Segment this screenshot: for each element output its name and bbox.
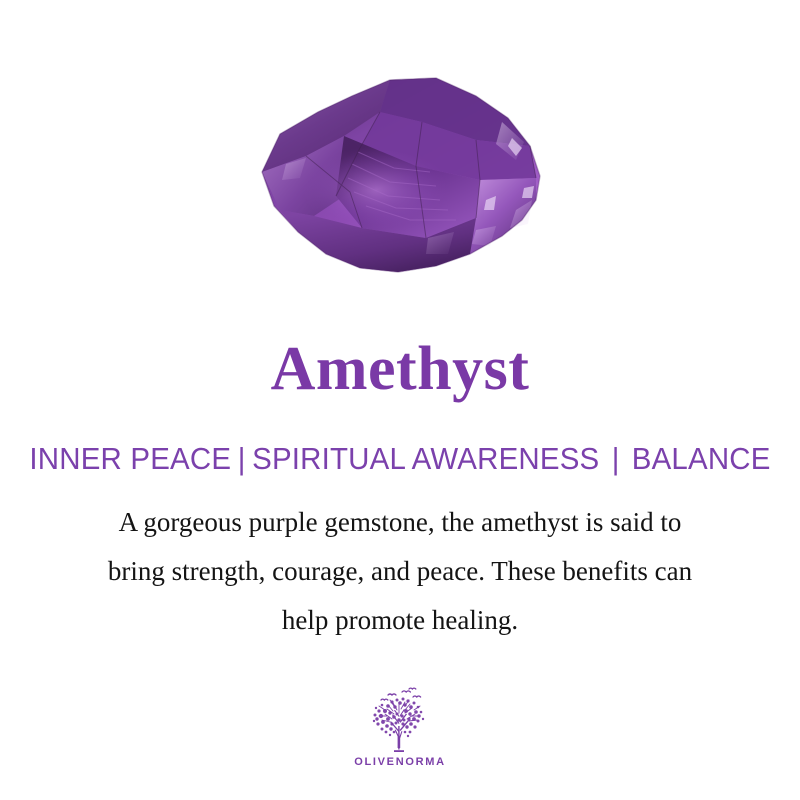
brand-name: OLIVENORMA [0,756,800,768]
tree-of-life-icon [361,686,439,754]
product-info-card: Amethyst INNER PEACE|SPIRITUAL AWARENESS… [0,0,800,800]
gemstone-image [0,60,800,310]
description-line-2: bring strength, courage, and peace. Thes… [50,547,750,596]
description-text: A gorgeous purple gemstone, the amethyst… [50,498,750,645]
raw-amethyst-crystal-icon [240,60,560,290]
keyword-separator-2: | [599,441,631,477]
keyword-spiritual-awareness: SPIRITUAL AWARENESS [252,441,599,476]
keyword-list: INNER PEACE|SPIRITUAL AWARENESS|BALANCE [20,441,780,477]
keyword-balance: BALANCE [632,441,771,476]
keyword-inner-peace: INNER PEACE [29,441,231,476]
brand-logo: OLIVENORMA [0,686,800,768]
description-line-3: help promote healing. [50,596,750,645]
keyword-separator-1: | [231,441,252,477]
description-line-1: A gorgeous purple gemstone, the amethyst… [50,498,750,547]
page-title: Amethyst [0,336,800,402]
